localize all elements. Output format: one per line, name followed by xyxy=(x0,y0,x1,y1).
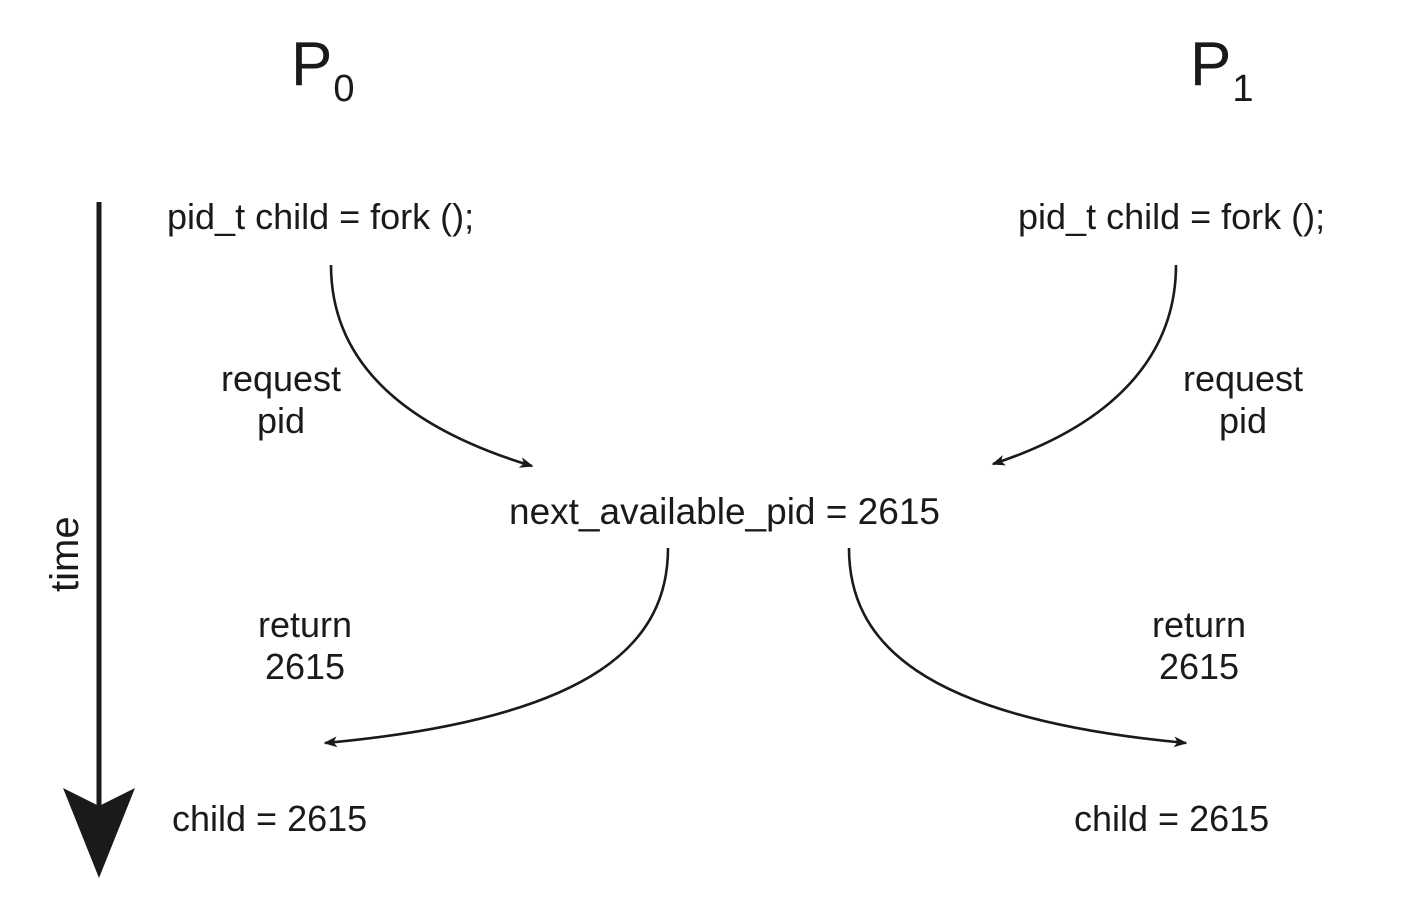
p1-request-label-line2: pid xyxy=(1219,400,1267,441)
p1-result: child = 2615 xyxy=(1074,798,1269,840)
p0-return-label-line2: 2615 xyxy=(265,646,345,687)
p1-return-label-line1: return xyxy=(1152,604,1246,645)
p1-return-label: return2615 xyxy=(1104,604,1294,689)
p1-request-label-line1: request xyxy=(1183,358,1303,399)
p1-return-label-line2: 2615 xyxy=(1159,646,1239,687)
p0-request-label-line1: request xyxy=(221,358,341,399)
process-label-p1: P1 xyxy=(1190,28,1253,101)
p1-request-label: requestpid xyxy=(1148,358,1338,443)
p0-request-label-line2: pid xyxy=(257,400,305,441)
diagram-vector-layer xyxy=(0,0,1418,920)
diagram-canvas: time P0 pid_t child = fork (); requestpi… xyxy=(0,0,1418,920)
process-label-p0-base: P xyxy=(291,30,332,99)
process-label-p0-subscript: 0 xyxy=(333,68,354,110)
process-label-p1-subscript: 1 xyxy=(1232,68,1253,110)
process-label-p1-base: P xyxy=(1190,30,1231,99)
shared-variable: next_available_pid = 2615 xyxy=(509,490,940,534)
p1-statement: pid_t child = fork (); xyxy=(1018,196,1325,238)
time-axis-label: time xyxy=(42,516,89,592)
p0-result: child = 2615 xyxy=(172,798,367,840)
p0-return-label: return2615 xyxy=(210,604,400,689)
p0-return-label-line1: return xyxy=(258,604,352,645)
p0-statement: pid_t child = fork (); xyxy=(167,196,474,238)
p0-request-label: requestpid xyxy=(186,358,376,443)
process-label-p0: P0 xyxy=(291,28,354,101)
